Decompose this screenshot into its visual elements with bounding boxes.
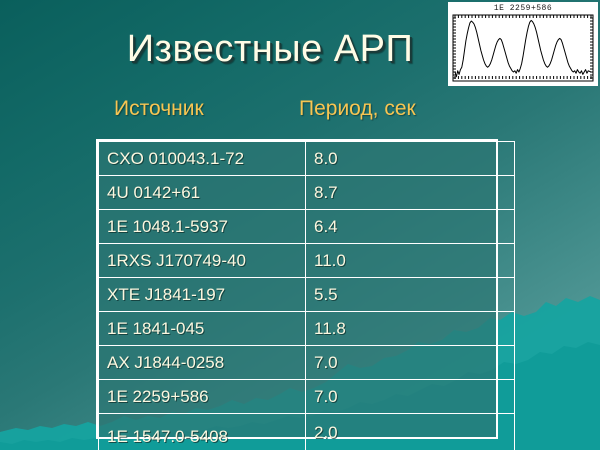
cell-period: 6.4 — [306, 210, 515, 244]
cell-period: 7.0 — [306, 346, 515, 380]
cell-source: 1E 1841-045 — [99, 312, 306, 346]
cell-source: 1RXS J170749-40 — [99, 244, 306, 278]
cell-period: 11.0 — [306, 244, 515, 278]
cell-source: 4U 0142+61 — [99, 176, 306, 210]
header-source: Источник — [114, 92, 204, 126]
table-row: 1E 1547.0-5408 2.0 — [99, 414, 515, 450]
lightcurve-inset: 1E 2259+586 — [448, 2, 598, 86]
lightcurve-plot — [452, 14, 594, 82]
table-row: XTE J1841-197 5.5 — [99, 278, 515, 312]
table-row: 1E 1841-045 11.8 — [99, 312, 515, 346]
cell-source: XTE J1841-197 — [99, 278, 306, 312]
header-period: Период, сек — [299, 92, 416, 126]
table-row: 1E 1048.1-5937 6.4 — [99, 210, 515, 244]
slide-canvas: Известные АРП Источник Период, сек CXO 0… — [0, 0, 600, 450]
cell-period: 2.0 — [306, 414, 515, 450]
periods-table-body: CXO 010043.1-72 8.0 4U 0142+61 8.7 1E 10… — [99, 142, 515, 450]
periods-table-container: CXO 010043.1-72 8.0 4U 0142+61 8.7 1E 10… — [96, 139, 498, 439]
table-row: 1E 2259+586 7.0 — [99, 380, 515, 414]
column-headers: Источник Период, сек — [96, 92, 498, 126]
cell-period: 11.8 — [306, 312, 515, 346]
cell-period: 8.0 — [306, 142, 515, 176]
table-row: 4U 0142+61 8.7 — [99, 176, 515, 210]
cell-period: 5.5 — [306, 278, 515, 312]
cell-source: AX J1844-0258 — [99, 346, 306, 380]
table-row: 1RXS J170749-40 11.0 — [99, 244, 515, 278]
cell-period: 7.0 — [306, 380, 515, 414]
cell-source: 1E 1547.0-5408 — [99, 414, 306, 450]
table-row: CXO 010043.1-72 8.0 — [99, 142, 515, 176]
table-row: AX J1844-0258 7.0 — [99, 346, 515, 380]
cell-source: 1E 2259+586 — [99, 380, 306, 414]
periods-table: CXO 010043.1-72 8.0 4U 0142+61 8.7 1E 10… — [98, 141, 515, 450]
cell-source: CXO 010043.1-72 — [99, 142, 306, 176]
lightcurve-title: 1E 2259+586 — [452, 4, 594, 14]
cell-source: 1E 1048.1-5937 — [99, 210, 306, 244]
cell-period: 8.7 — [306, 176, 515, 210]
